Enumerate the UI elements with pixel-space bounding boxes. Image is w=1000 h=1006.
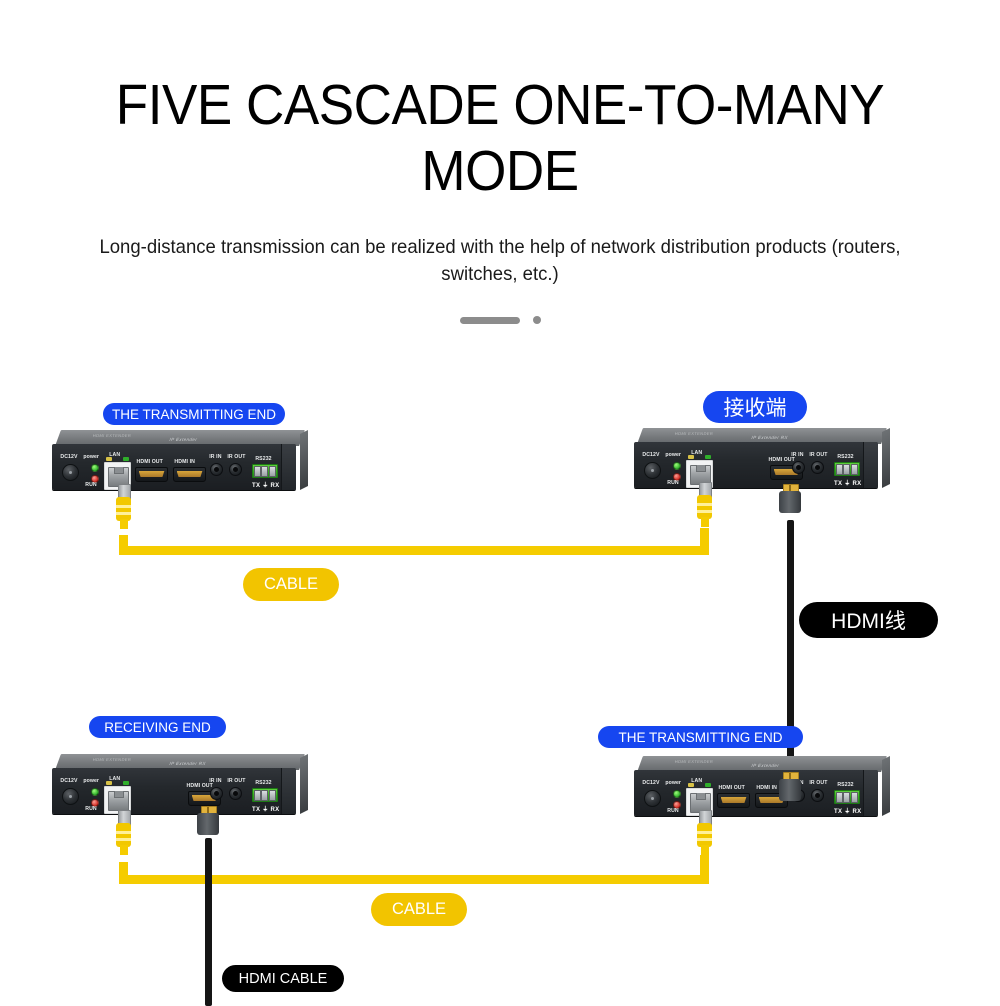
port-label-power: power — [83, 454, 99, 460]
port-label-rs232: RS232 — [837, 454, 853, 460]
label-hdmi-cable-bottom: HDMI CABLE — [222, 965, 344, 992]
lan-led-right — [705, 783, 711, 787]
ir-in-jack[interactable] — [792, 461, 805, 474]
ethernet-cable-bottom-right-vertical — [700, 855, 709, 877]
ir-out-jack[interactable] — [229, 787, 242, 800]
port-label-dc: DC12V — [642, 780, 659, 786]
port-label-hdmi-out: HDMI OUT — [719, 785, 745, 791]
rs232-screw-2 — [261, 466, 268, 477]
port-label-dc: DC12V — [642, 452, 659, 458]
port-label-rs232: RS232 — [837, 782, 853, 788]
hdmi-plug-body — [779, 491, 801, 513]
label-transmitting-end-bottom: THE TRANSMITTING END — [598, 726, 803, 748]
lan-led-right — [123, 457, 129, 461]
port-label-dc: DC12V — [60, 778, 77, 784]
device-receiver-bottom-left[interactable]: HDMI EXTENDER IP Extender RX DC12V power… — [52, 754, 302, 816]
device-silk-model: IP Extender — [751, 763, 780, 768]
port-label-ir-out: IR OUT — [809, 452, 827, 458]
label-receiving-end-chinese: 接收端 — [703, 391, 807, 423]
label-receiving-end-bottom: RECEIVING END — [89, 716, 226, 738]
device-silk-brand: HDMI EXTENDER — [675, 759, 714, 764]
lan-led-right — [705, 455, 711, 459]
port-label-run: RUN — [85, 482, 97, 488]
device-silk-brand: HDMI EXTENDER — [675, 431, 714, 436]
rs232-screw-3 — [851, 792, 858, 803]
label-transmitting-end-top: THE TRANSMITTING END — [103, 403, 285, 425]
port-label-power: power — [665, 780, 681, 786]
device-faceplate: DC12V power RUN LAN HDMI OUT HDMI IN IR … — [52, 444, 296, 490]
connection-diagram: THE TRANSMITTING END HDMI EXTENDER IP Ex… — [0, 0, 1000, 1006]
dc-power-jack[interactable] — [644, 790, 661, 807]
rj45-tail — [701, 845, 709, 855]
port-label-hdmi-out: HDMI OUT — [187, 783, 213, 789]
label-text: RECEIVING END — [104, 720, 211, 735]
rs232-txrx-label: TX ⏚ RX — [252, 804, 279, 813]
port-label-ir-out: IR OUT — [227, 454, 245, 460]
device-chassis-side — [882, 428, 890, 488]
rj45-tail — [120, 845, 128, 855]
label-text: HDMI线 — [831, 605, 906, 635]
device-chassis-side — [300, 754, 308, 814]
port-label-run: RUN — [667, 808, 679, 814]
label-text: CABLE — [264, 575, 318, 594]
ir-in-jack[interactable] — [210, 463, 223, 476]
label-text: 接收端 — [724, 392, 787, 422]
rj45-boot — [697, 823, 712, 847]
power-led — [91, 788, 99, 796]
rs232-terminal-block[interactable] — [834, 790, 860, 804]
hdmi-out-port[interactable] — [135, 467, 168, 482]
power-led — [673, 462, 681, 470]
ethernet-cable-top-horizontal — [119, 546, 709, 555]
rs232-txrx-label: TX ⏚ RX — [834, 478, 861, 487]
label-text: THE TRANSMITTING END — [112, 407, 276, 422]
rs232-screw-3 — [269, 790, 276, 801]
rj45-boot — [116, 497, 131, 521]
device-chassis-side — [300, 430, 308, 490]
rs232-screw-3 — [851, 464, 858, 475]
lan-led-left — [688, 455, 694, 459]
device-transmitter-bottom-right[interactable]: HDMI EXTENDER IP Extender DC12V power RU… — [634, 756, 884, 818]
hdmi-in-port[interactable] — [173, 467, 206, 482]
power-led — [91, 464, 99, 472]
rs232-screw-1 — [836, 792, 843, 803]
ethernet-cable-top-right-vertical — [700, 528, 709, 549]
label-cable-top: CABLE — [243, 568, 339, 601]
rs232-screw-1 — [254, 790, 261, 801]
device-receiver-top-right[interactable]: HDMI EXTENDER IP Extender RX DC12V power… — [634, 428, 884, 490]
port-label-hdmi-in: HDMI IN — [174, 459, 195, 465]
hdmi-plug-body — [197, 813, 219, 835]
device-silk-model: IP Extender RX — [751, 435, 788, 440]
ir-out-jack[interactable] — [229, 463, 242, 476]
ir-out-jack[interactable] — [811, 789, 824, 802]
port-label-run: RUN — [667, 480, 679, 486]
dc-power-jack[interactable] — [644, 462, 661, 479]
device-silk-model: IP Extender RX — [169, 761, 206, 766]
rs232-txrx-label: TX ⏚ RX — [834, 806, 861, 815]
rs232-screw-2 — [843, 464, 850, 475]
rs232-screw-3 — [269, 466, 276, 477]
lan-led-right — [123, 781, 129, 785]
rs232-screw-2 — [843, 792, 850, 803]
port-label-ir-out: IR OUT — [809, 780, 827, 786]
rj45-boot — [116, 823, 131, 847]
hdmi-plug-body — [779, 779, 801, 801]
rs232-screw-1 — [254, 466, 261, 477]
lan-led-left — [106, 781, 112, 785]
port-label-power: power — [665, 452, 681, 458]
label-text: CABLE — [392, 900, 446, 919]
label-cable-bottom: CABLE — [371, 893, 467, 926]
hdmi-cable-bottom-vertical — [205, 838, 212, 1006]
port-label-ir-in: IR IN — [209, 454, 221, 460]
rs232-terminal-block[interactable] — [252, 464, 278, 478]
rs232-txrx-label: TX ⏚ RX — [252, 480, 279, 489]
rs232-terminal-block[interactable] — [834, 462, 860, 476]
port-label-rs232: RS232 — [255, 780, 271, 786]
lan-rj45-socket — [108, 791, 129, 811]
rj45-boot — [697, 495, 712, 519]
rs232-terminal-block[interactable] — [252, 788, 278, 802]
port-label-ir-in: IR IN — [791, 452, 803, 458]
device-silk-model: IP Extender — [169, 437, 198, 442]
port-label-rs232: RS232 — [255, 456, 271, 462]
port-label-run: RUN — [85, 806, 97, 812]
port-label-hdmi-in: HDMI IN — [756, 785, 777, 791]
dc-power-jack[interactable] — [62, 788, 79, 805]
ir-in-jack[interactable] — [210, 787, 223, 800]
rj45-tail — [701, 517, 709, 527]
port-label-dc: DC12V — [60, 454, 77, 460]
lan-led-left — [688, 783, 694, 787]
port-label-hdmi-out: HDMI OUT — [769, 457, 795, 463]
port-label-ir-out: IR OUT — [227, 778, 245, 784]
hdmi-out-port[interactable] — [717, 793, 750, 808]
dc-power-jack[interactable] — [62, 464, 79, 481]
port-label-ir-in: IR IN — [209, 778, 221, 784]
rs232-screw-2 — [261, 790, 268, 801]
port-label-power: power — [83, 778, 99, 784]
ir-out-jack[interactable] — [811, 461, 824, 474]
port-label-hdmi-out: HDMI OUT — [137, 459, 163, 465]
device-chassis-side — [882, 756, 890, 816]
label-text: HDMI CABLE — [239, 971, 328, 987]
rj45-tail — [120, 519, 128, 529]
label-text: THE TRANSMITTING END — [618, 730, 782, 745]
label-hdmi-cable-right: HDMI线 — [799, 602, 938, 638]
device-faceplate: DC12V power RUN LAN HDMI OUT IR IN IR OU… — [634, 442, 878, 488]
device-silk-brand: HDMI EXTENDER — [93, 433, 132, 438]
device-faceplate: DC12V power RUN LAN HDMI OUT HDMI IN IR … — [634, 770, 878, 816]
device-faceplate: DC12V power RUN LAN HDMI OUT IR IN IR OU… — [52, 768, 296, 814]
power-led — [673, 790, 681, 798]
device-silk-brand: HDMI EXTENDER — [93, 757, 132, 762]
device-transmitter-top-left[interactable]: HDMI EXTENDER IP Extender DC12V power RU… — [52, 430, 302, 492]
lan-led-left — [106, 457, 112, 461]
rs232-screw-1 — [836, 464, 843, 475]
